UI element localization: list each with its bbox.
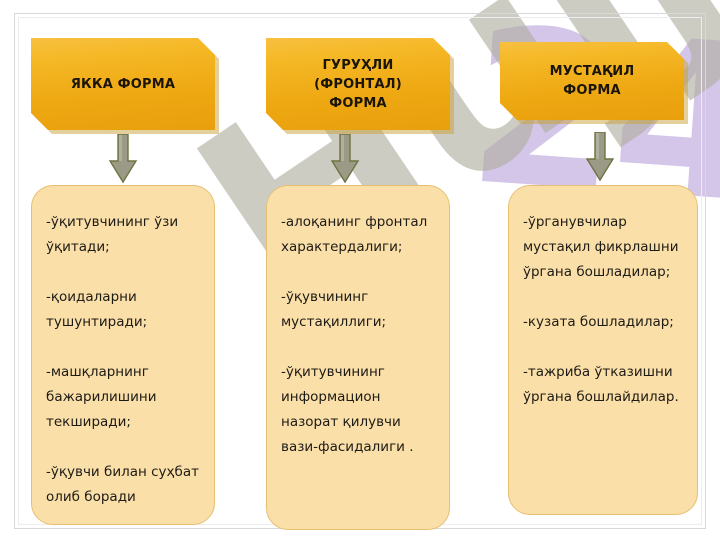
header-box-yakka[interactable]: ЯККА ФОРМА [31,38,215,130]
paragraph-gap [281,335,435,360]
body-paragraph: -алоқанинг фронтал характердалиги; [281,210,435,260]
body-paragraph: -ўқувчи билан суҳбат олиб боради [46,460,200,510]
paragraph-gap [281,260,435,285]
header-box-guruhli[interactable]: ГУРУҲЛИ (ФРОНТАЛ) ФОРМА [266,38,450,130]
body-paragraph: -ўқитувчининг информацион назорат қилувч… [281,360,435,460]
body-paragraph: -ўқитувчининг ўзи ўқитади; [46,210,200,260]
body-paragraph: -тажриба ўтказишни ўргана бошлайдилар. [523,360,683,410]
paragraph-gap [523,335,683,360]
body-paragraph: -машқларнинг бажарилишини текширади; [46,360,200,435]
paragraph-gap [46,435,200,460]
down-arrow-icon-guruhli [330,134,360,184]
down-arrow-icon-mustaqil [585,132,615,182]
paragraph-gap [46,335,200,360]
body-box-guruhli[interactable]: -алоқанинг фронтал характердалиги; -ўқув… [266,185,450,530]
body-paragraph: -кузата бошладилар; [523,310,683,335]
paragraph-gap [523,285,683,310]
paragraph-gap [46,260,200,285]
body-box-yakka[interactable]: -ўқитувчининг ўзи ўқитади; -қоидаларни т… [31,185,215,525]
header-box-mustaqil[interactable]: МУСТАҚИЛ ФОРМА [500,42,684,120]
body-paragraph: -қоидаларни тушунтиради; [46,285,200,335]
body-box-mustaqil[interactable]: -ўрганувчилар мустақил фикрлашни ўргана … [508,185,698,515]
slide-canvas: 24 Hujjat ЯККА ФОРМА -ўқитувчининг ўзи ў… [0,0,720,540]
body-paragraph: -ўрганувчилар мустақил фикрлашни ўргана … [523,210,683,285]
body-paragraph: -ўқувчининг мустақиллиги; [281,285,435,335]
down-arrow-icon-yakka [108,134,138,184]
